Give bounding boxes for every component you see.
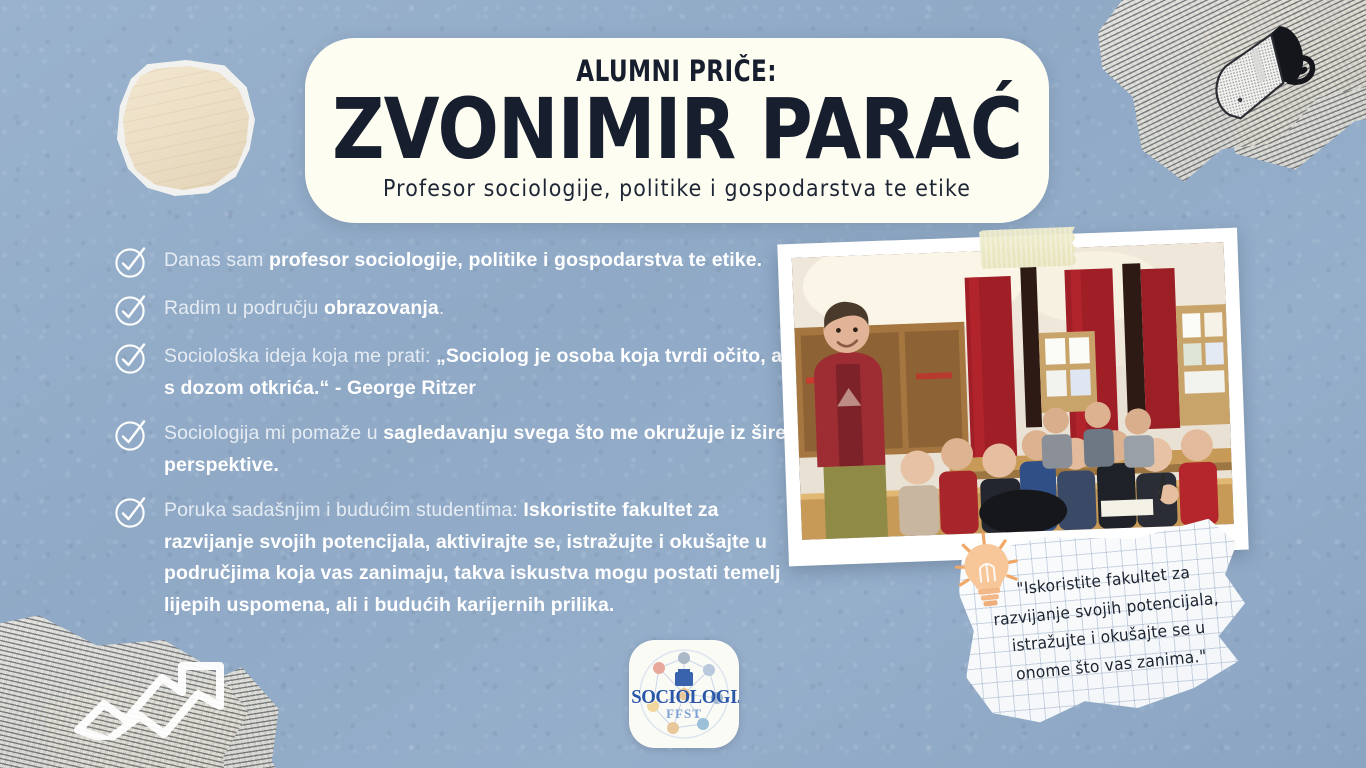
- sociologija-ffst-logo: SOCIOLOGIJA FFST: [629, 640, 739, 748]
- bullet-item-3: Sociološka ideja koja me prati: „Sociolo…: [114, 340, 794, 404]
- subtitle-text: Profesor sociologije, politike i gospoda…: [383, 175, 971, 202]
- page-title: ZVONIMIR PARAĆ: [332, 88, 1022, 170]
- washi-tape: [979, 226, 1077, 271]
- check-circle-icon: [114, 341, 148, 375]
- polaroid-photo-frame: [777, 228, 1248, 567]
- check-circle-icon: [114, 418, 148, 452]
- bullet-item-2: Radim u području obrazovanja.: [114, 292, 794, 327]
- bullet-item-5: Poruka sadašnjim i budućim studentima: I…: [114, 494, 794, 621]
- bullet-text: Danas sam profesor sociologije, politike…: [164, 244, 762, 277]
- bullet-text: Poruka sadašnjim i budućim studentima: I…: [164, 494, 794, 621]
- bullet-text: Sociološka ideja koja me prati: „Sociolo…: [164, 340, 794, 404]
- bullet-text: Sociologija mi pomaže u sagledavanju sve…: [164, 417, 794, 481]
- check-circle-icon: [114, 495, 148, 529]
- bullet-list: Danas sam profesor sociologije, politike…: [114, 244, 794, 635]
- classroom-photo: [792, 242, 1234, 540]
- logo-subtext: FFST: [629, 706, 739, 722]
- growth-arrow-icon: [74, 644, 224, 740]
- check-circle-icon: [114, 293, 148, 327]
- lightbulb-icon: [946, 526, 1028, 613]
- bullet-item-1: Danas sam profesor sociologije, politike…: [114, 244, 794, 279]
- title-card: ALUMNI PRIČE: ZVONIMIR PARAĆ Profesor so…: [305, 38, 1049, 223]
- bullet-text: Radim u području obrazovanja.: [164, 292, 444, 325]
- torn-paper-circle: [123, 66, 249, 190]
- bullet-item-4: Sociologija mi pomaže u sagledavanju sve…: [114, 417, 794, 481]
- check-circle-icon: [114, 245, 148, 279]
